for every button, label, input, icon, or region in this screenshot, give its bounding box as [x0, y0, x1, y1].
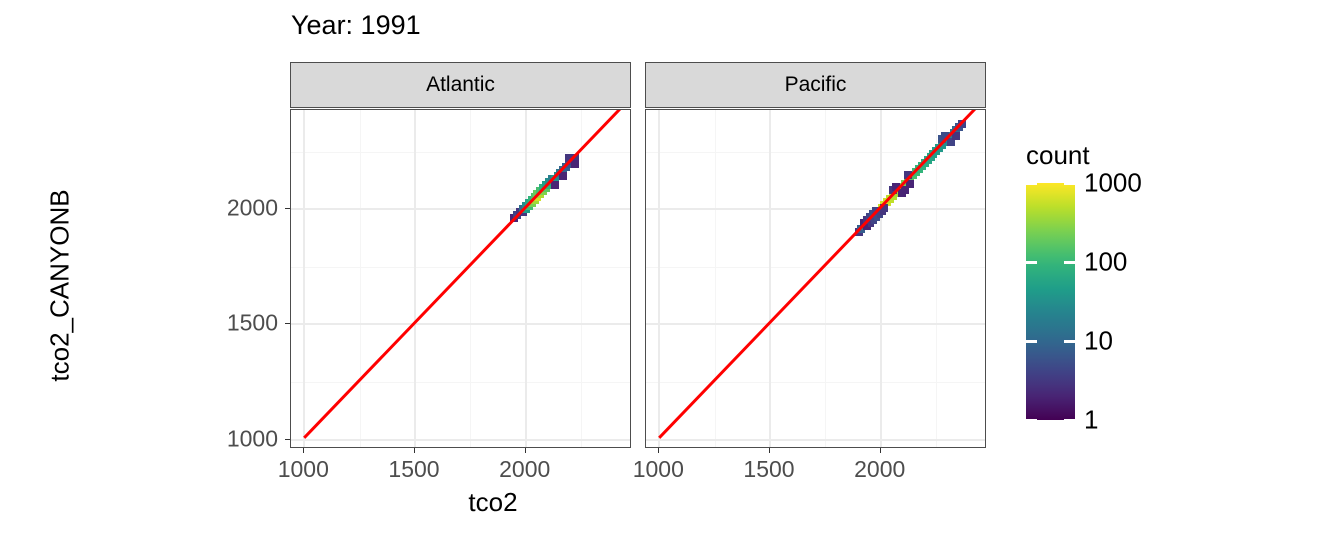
legend-tick-mark — [1064, 340, 1075, 343]
x-axis-title: tco2 — [0, 487, 986, 518]
legend-title: count — [1026, 140, 1090, 171]
x-axis-tick-mark — [769, 448, 770, 453]
legend-colorbar — [1026, 183, 1075, 420]
x-axis-tick-label: 1000 — [633, 456, 684, 483]
y-axis-tick-mark — [285, 323, 290, 324]
identity-reference-line — [646, 110, 985, 447]
facet-strip-label: Pacific — [785, 73, 847, 97]
facet-strip-pacific: Pacific — [645, 62, 986, 108]
legend-tick-mark — [1064, 261, 1075, 264]
panel-pacific — [645, 109, 986, 448]
y-axis-title: tco2_CANYONB — [45, 86, 76, 486]
y-axis-tick-mark — [285, 439, 290, 440]
legend-tick-mark — [1026, 340, 1037, 343]
legend-tick-mark — [1026, 261, 1037, 264]
facet-strip-label: Atlantic — [426, 73, 495, 97]
x-axis-tick-mark — [658, 448, 659, 453]
facet-strip-atlantic: Atlantic — [290, 62, 631, 108]
legend-tick-mark — [1026, 182, 1037, 185]
x-axis-tick-mark — [880, 448, 881, 453]
y-axis-tick-mark — [285, 208, 290, 209]
legend-tick-mark — [1064, 419, 1075, 422]
x-axis-tick-label: 1500 — [743, 456, 794, 483]
legend-tick-label: 10 — [1084, 326, 1113, 357]
x-axis-tick-label: 1000 — [278, 456, 329, 483]
legend-tick-mark — [1064, 182, 1075, 185]
y-axis-tick-label: 2000 — [0, 195, 278, 222]
panel-atlantic — [290, 109, 631, 448]
identity-reference-line — [291, 110, 630, 447]
legend-tick-label: 100 — [1084, 247, 1127, 278]
x-axis-tick-label: 2000 — [499, 456, 550, 483]
legend-tick-label: 1000 — [1084, 168, 1142, 199]
x-axis-tick-label: 1500 — [388, 456, 439, 483]
x-axis-tick-label: 2000 — [854, 456, 905, 483]
legend-tick-label: 1 — [1084, 405, 1098, 436]
x-axis-tick-mark — [303, 448, 304, 453]
x-axis-tick-mark — [414, 448, 415, 453]
y-axis-tick-label: 1000 — [0, 425, 278, 452]
x-axis-tick-mark — [525, 448, 526, 453]
y-axis-tick-label: 1500 — [0, 310, 278, 337]
legend-tick-mark — [1026, 419, 1037, 422]
plot-container: Year: 1991 Atlantic Pacific 100015002000… — [0, 0, 1344, 537]
page-title: Year: 1991 — [291, 8, 421, 42]
